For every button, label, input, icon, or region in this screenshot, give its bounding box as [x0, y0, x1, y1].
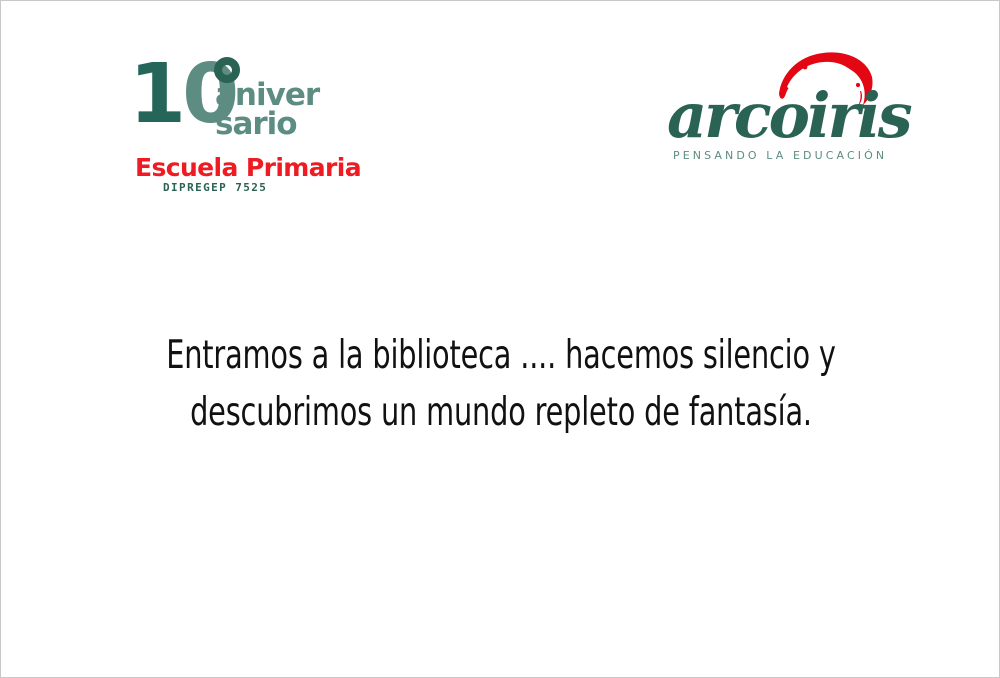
caption-line-1: Entramos a la biblioteca .... hacemos si… — [91, 327, 911, 384]
anniversary-word-line2: sario — [215, 110, 319, 139]
arcoiris-tagline: PENSANDO LA EDUCACIÓN — [673, 149, 887, 162]
arcoiris-wordmark: arcoiris — [667, 83, 910, 149]
slide-canvas: 10 aniver sario Escuela Primaria DIPREGE… — [0, 0, 1000, 678]
anniversary-logo: 10 aniver sario Escuela Primaria DIPREGE… — [129, 53, 309, 193]
anniversary-digit-one: 1 — [129, 47, 182, 142]
school-name: Escuela Primaria — [135, 153, 361, 182]
anniversary-word: aniver sario — [215, 81, 319, 139]
arcoiris-logo: arcoiris PENSANDO LA EDUCACIÓN — [667, 47, 877, 172]
caption-line-2: descubrimos un mundo repleto de fantasía… — [91, 384, 911, 441]
school-registration-code: DIPREGEP 7525 — [163, 181, 267, 194]
anniversary-logo-top: 10 aniver sario — [129, 53, 309, 145]
caption-text: Entramos a la biblioteca .... hacemos si… — [1, 327, 1000, 441]
